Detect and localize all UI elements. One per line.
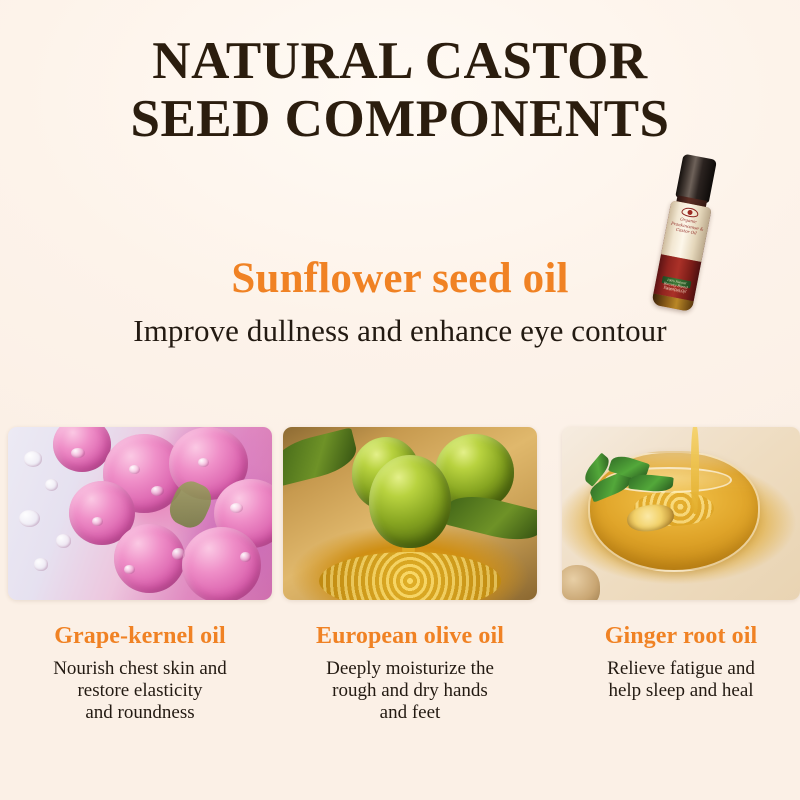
card-desc-line: and roundness <box>8 702 272 724</box>
ginger-photo <box>562 427 800 600</box>
ingredient-card-olive: European olive oil Deeply moisturize the… <box>283 427 537 724</box>
page-title: NATURAL CASTOR SEED COMPONENTS <box>0 32 800 148</box>
parsley-sprig <box>581 455 676 514</box>
water-droplets <box>8 427 272 600</box>
ingredient-card-ginger: Ginger root oil Relieve fatigue and help… <box>562 427 800 702</box>
bottle-body: Organic Frankincense & Castor Oil 100% N… <box>651 200 711 312</box>
card-desc-olive: Deeply moisturize the rough and dry hand… <box>283 658 537 724</box>
infographic-page: NATURAL CASTOR SEED COMPONENTS Sunflower… <box>0 0 800 800</box>
grape-photo <box>8 427 272 600</box>
card-desc-line: rough and dry hands <box>283 680 537 702</box>
card-desc-line: Deeply moisturize the <box>283 658 537 680</box>
card-desc-line: restore elasticity <box>8 680 272 702</box>
card-desc-grape: Nourish chest skin and restore elasticit… <box>8 658 272 724</box>
ginger-root-chunk <box>562 565 600 600</box>
bottle-label-upper: Organic Frankincense & Castor Oil <box>661 200 712 262</box>
honey-pour-stream <box>691 427 699 514</box>
title-line-1: NATURAL CASTOR <box>0 32 800 90</box>
card-title-grape: Grape-kernel oil <box>8 623 272 649</box>
card-title-ginger: Ginger root oil <box>562 623 800 649</box>
card-desc-line: and feet <box>283 702 537 724</box>
card-desc-line: help sleep and heal <box>562 680 800 702</box>
title-line-2: SEED COMPONENTS <box>0 90 800 148</box>
card-desc-line: Nourish chest skin and <box>8 658 272 680</box>
card-title-olive: European olive oil <box>283 623 537 649</box>
card-desc-ginger: Relieve fatigue and help sleep and heal <box>562 658 800 702</box>
olive-leaf <box>283 428 360 487</box>
ingredient-card-grape: Grape-kernel oil Nourish chest skin and … <box>8 427 272 724</box>
hero-subheading: Improve dullness and enhance eye contour <box>0 313 800 349</box>
parsley-leaf <box>628 472 673 493</box>
bottle-label-script: Organic Frankincense & Castor Oil <box>669 215 706 237</box>
card-desc-line: Relieve fatigue and <box>562 658 800 680</box>
olive-oil-pool <box>319 552 502 600</box>
olive-photo <box>283 427 537 600</box>
olive-fruit <box>369 455 450 548</box>
